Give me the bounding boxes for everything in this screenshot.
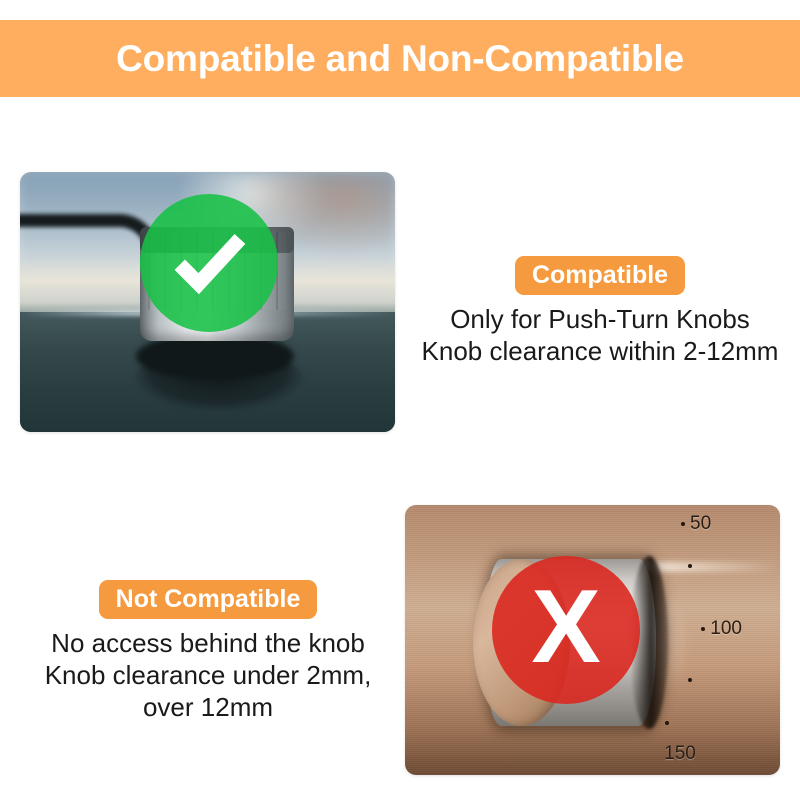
scale-label-100: 100 (710, 618, 742, 640)
check-mark-icon (140, 194, 278, 332)
header-banner: Compatible and Non-Compatible (0, 20, 800, 97)
scale-mark-100: 100 (701, 618, 742, 640)
compatible-description: Only for Push-Turn Knobs Knob clearance … (410, 304, 790, 367)
not-compatible-line-3: over 12mm (18, 692, 398, 724)
scale-tick-3 (665, 721, 669, 725)
scale-label-150: 150 (664, 743, 696, 765)
compatible-caption: Compatible Only for Push-Turn Knobs Knob… (410, 256, 790, 368)
compatible-badge: Compatible (515, 256, 685, 295)
scale-mark-50: 50 (681, 513, 711, 535)
scale-label-50: 50 (690, 513, 711, 535)
not-compatible-line-2: Knob clearance under 2mm, (18, 660, 398, 692)
scale-dot-icon (665, 721, 669, 725)
compatible-line-2: Knob clearance within 2-12mm (410, 336, 790, 368)
scale-dot-icon (701, 627, 705, 631)
page-title: Compatible and Non-Compatible (116, 40, 684, 77)
scale-mark-150: 150 (664, 743, 696, 765)
scale-dot-icon (681, 522, 685, 526)
scale-dot-icon (688, 678, 692, 682)
scale-dot-icon (688, 564, 692, 568)
not-compatible-description: No access behind the knob Knob clearance… (18, 628, 398, 723)
not-compatible-badge: Not Compatible (99, 580, 318, 619)
not-compatible-caption: Not Compatible No access behind the knob… (18, 580, 398, 723)
oven-temperature-scale: 50 100 150 (656, 505, 769, 775)
cross-mark-icon: X (492, 556, 640, 704)
compatible-line-1: Only for Push-Turn Knobs (410, 304, 790, 336)
cross-mark-label: X (531, 575, 600, 679)
not-compatible-line-1: No access behind the knob (18, 628, 398, 660)
scale-tick-2 (688, 678, 692, 682)
scale-tick-1 (688, 564, 692, 568)
